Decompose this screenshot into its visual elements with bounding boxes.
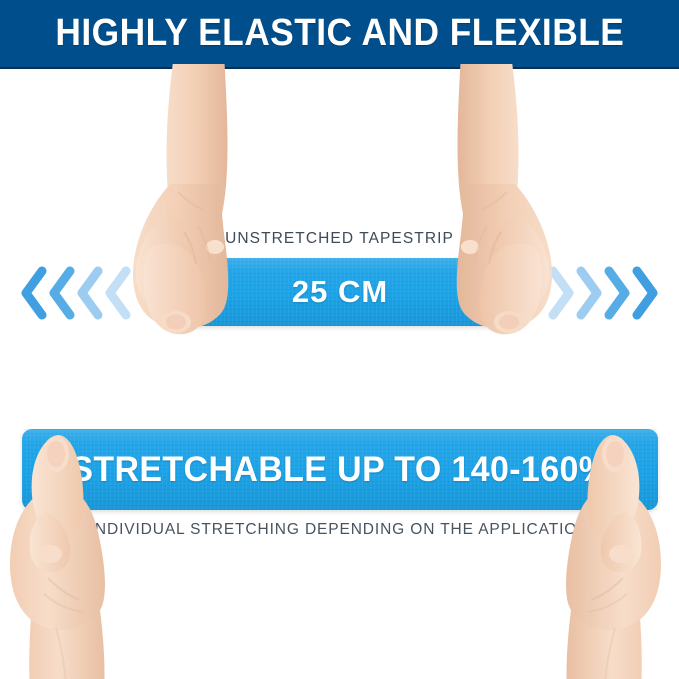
page-title: HIGHLY ELASTIC AND FLEXIBLE [55,12,624,55]
chevron-left-icon [46,266,76,320]
hand-gripping-tape-left [0,418,134,679]
chevron-right-icon [603,266,633,320]
tape-length-label: 25 CM [292,274,388,310]
infographic-canvas: HIGHLY ELASTIC AND FLEXIBLE [0,0,679,679]
chevron-left-icon [18,266,48,320]
tape-stretch-label: STRETCHABLE UP TO 140-160% [71,450,610,490]
chevron-right-icon [631,266,661,320]
header-banner: HIGHLY ELASTIC AND FLEXIBLE [0,0,679,69]
unstretched-section [0,69,679,389]
hand-gripping-tape-left [112,64,262,364]
hand-gripping-tape-right [423,64,573,364]
hand-gripping-tape-right [537,418,677,679]
chevron-left-icon [74,266,104,320]
chevron-right-icon [575,266,605,320]
